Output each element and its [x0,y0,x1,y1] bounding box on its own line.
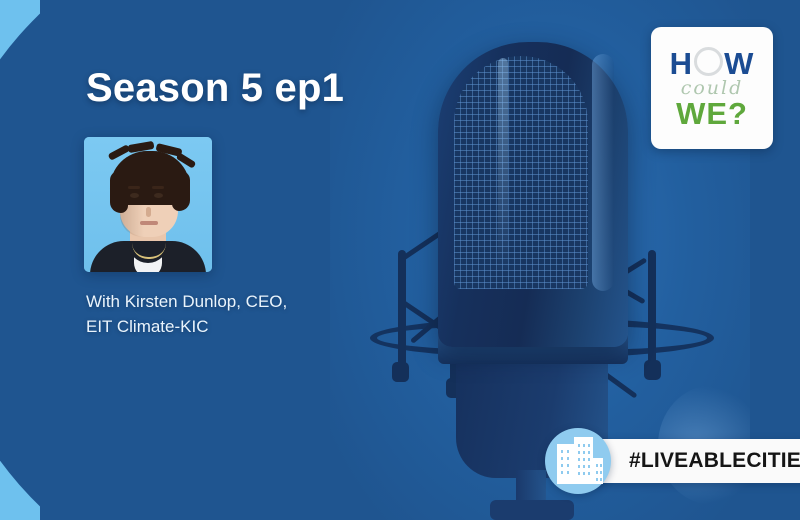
microphone-head [438,42,628,347]
guest-credit-line-2: EIT Climate-KIC [86,314,287,339]
guest-credit: With Kirsten Dunlop, CEO, EIT Climate-KI… [86,289,287,339]
microphone-side-edge [592,54,614,291]
hashtag-label: #LIVEABLECITIES [629,449,800,473]
portrait-eyebrow-right [152,186,164,189]
show-logo[interactable]: HW could WE? [651,27,773,149]
city-buildings-icon [545,428,611,494]
shock-mount-post-left [398,250,406,370]
guest-credit-line-1: With Kirsten Dunlop, CEO, [86,289,287,314]
portrait-eye-right [154,193,163,198]
portrait-eye-left [130,193,139,198]
page-title: Season 5 ep1 [86,66,344,111]
logo-how-word: HW [670,47,755,79]
microphone-grille-mesh [454,56,588,289]
portrait-hair-left [110,171,128,213]
building-tower-right [593,458,603,484]
microphone-base [490,500,574,520]
building-tower-middle [574,437,593,484]
logo-how-h: H [670,46,693,81]
microphone-highlight [498,58,508,277]
shock-mount-foot-left [392,362,409,382]
guest-portrait [84,137,212,272]
logo-how-w: W [724,46,754,81]
shock-mount-post-right [648,250,656,368]
shock-mount-foot-right [644,360,661,380]
logo-we-word: WE? [676,98,748,130]
logo-could-word: could [681,78,744,98]
portrait-nose [146,207,151,217]
portrait-mouth [140,221,158,225]
portrait-eyebrow-left [128,186,140,189]
circle-outline-icon [694,47,723,76]
portrait-hair-right [172,171,190,211]
hashtag-pill[interactable]: #LIVEABLECITIES [589,439,800,483]
hashtag-badge[interactable]: #LIVEABLECITIES [545,428,800,494]
podcast-cover-canvas: Season 5 ep1 With Kirsten Dunlop, CEO, E… [0,0,800,520]
building-tower-left [557,444,574,484]
